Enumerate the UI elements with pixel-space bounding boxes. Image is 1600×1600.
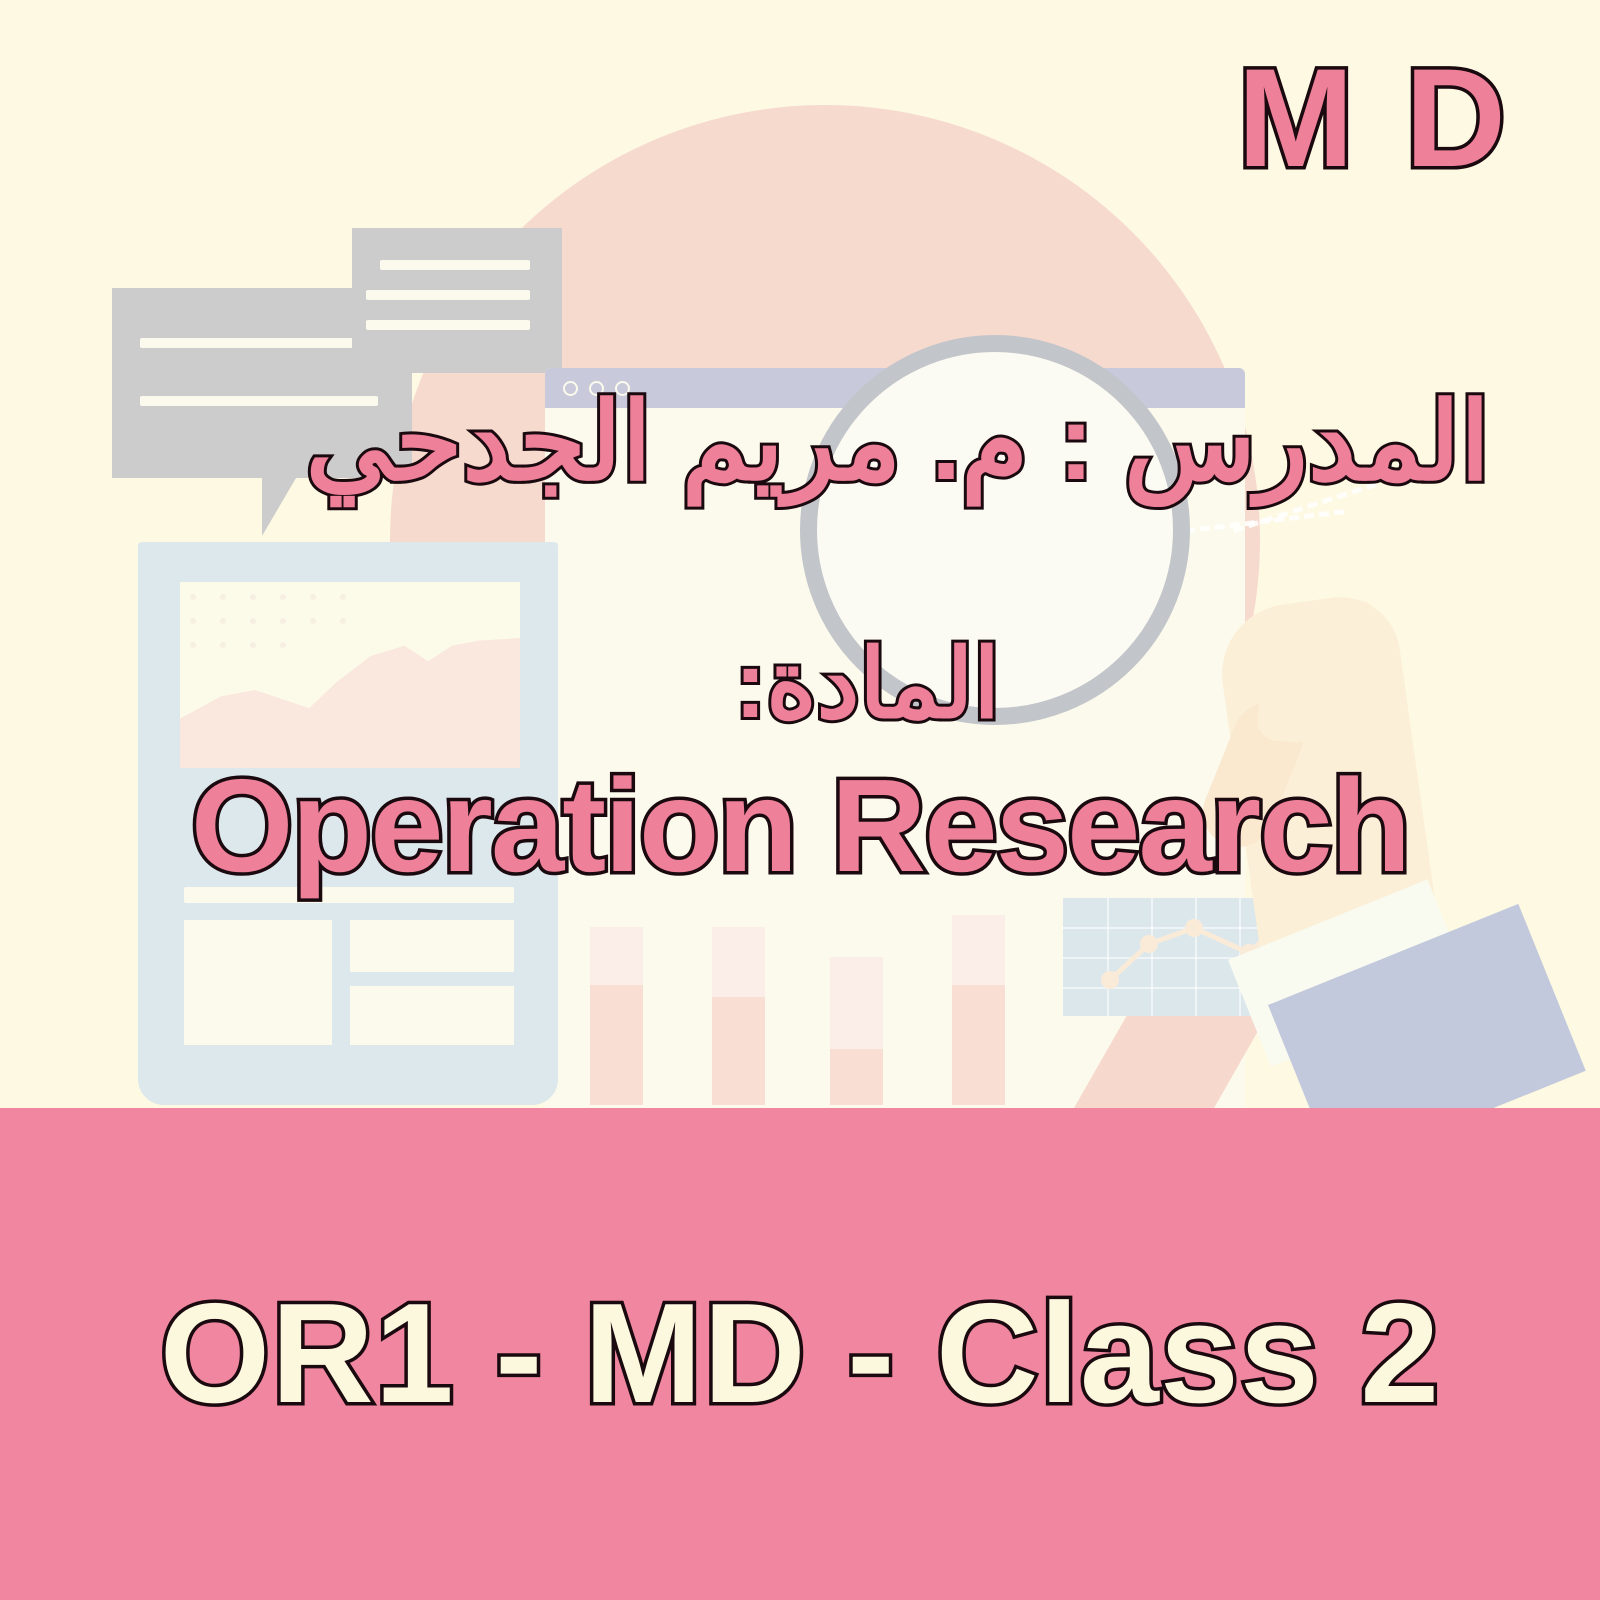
subject-title: Operation Research <box>191 760 1409 892</box>
subject-label: المادة: <box>734 630 1000 740</box>
banner-title: OR1 - MD - Class 2 <box>160 1283 1441 1425</box>
teacher-name-line: المدرس : م. مريم الجدحي <box>306 380 1490 504</box>
course-cover-poster: M D المدرس : م. مريم الجدحي المادة: Oper… <box>0 0 1600 1600</box>
bottom-banner: OR1 - MD - Class 2 <box>0 1108 1600 1600</box>
md-logo: M D <box>1237 48 1512 188</box>
